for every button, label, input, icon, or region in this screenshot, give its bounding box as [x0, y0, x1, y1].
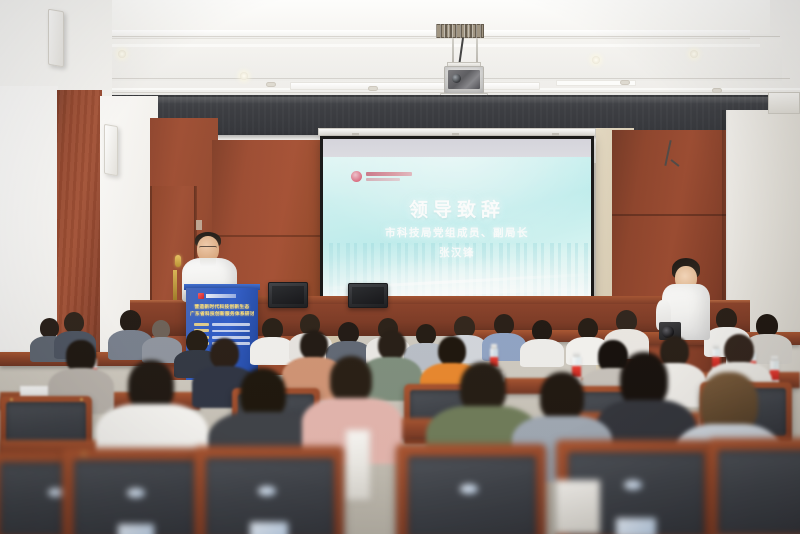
ceiling-seam [20, 36, 780, 37]
ceiling-downlight [592, 56, 600, 64]
ceiling-seam [0, 92, 800, 93]
row-key [194, 323, 209, 326]
vent-grille-icon [436, 24, 484, 38]
slide-subtitle-2: 张汉锋 [323, 245, 591, 260]
projector-lift-rod [452, 38, 454, 64]
slide-logo-icon [351, 171, 362, 182]
smoke-detector-icon [368, 86, 378, 91]
ceiling-downlight [118, 50, 126, 58]
slide-title: 领导致辞 [323, 195, 591, 222]
tote-bag [556, 480, 600, 534]
door-handle-icon[interactable] [175, 255, 181, 267]
podium-logo-icon [198, 293, 204, 299]
podium-banner-row [194, 323, 250, 326]
row-value [212, 336, 250, 339]
screen-top-band [323, 139, 591, 157]
conference-hall-photo: 领导致辞 市科技局党组成员、副局长 张汉锋 营造新时代科技创新生态 广东省科技创… [0, 0, 800, 534]
projector-lift-rod [476, 38, 478, 64]
door-push-plate [173, 270, 177, 300]
wood-seam [212, 235, 324, 237]
slide-logo-subtext [366, 178, 400, 181]
smoke-detector-icon [266, 82, 276, 87]
podium-logo-wordmark [206, 294, 236, 298]
slide-logo-wordmark [366, 172, 412, 176]
podium-banner-line-2: 广东省科技创新服务体系研讨 [190, 311, 254, 317]
ceiling-downlight [240, 72, 248, 80]
smoke-detector-icon [712, 88, 722, 93]
wall-equipment-box [768, 92, 800, 114]
slide-subtitle-1: 市科技局党组成员、副局长 [323, 225, 591, 240]
handout-paper [346, 430, 370, 500]
door-hinge [196, 220, 202, 230]
projector-lens-icon [452, 74, 461, 83]
monitor-screen [352, 287, 384, 304]
ceiling-recess-lip [60, 44, 760, 47]
wood-seam [612, 214, 728, 216]
row-value [212, 323, 250, 326]
beam-sheen [108, 97, 800, 104]
row-value [212, 330, 250, 333]
ceiling-downlight [690, 50, 698, 58]
monitor-screen [272, 286, 304, 304]
podium-banner-line-1: 营造新时代科技创新生态 [190, 304, 254, 310]
eyeglasses-icon [199, 246, 217, 251]
ceiling-seam [10, 78, 790, 79]
ceiling-linear-light [290, 82, 540, 90]
presentation-slide: 领导致辞 市科技局党组成员、副局长 张汉锋 [323, 157, 591, 301]
wall-loudspeaker [104, 124, 118, 176]
speaker-collar [200, 258, 216, 267]
ceiling-light-slot [110, 30, 750, 39]
smoke-detector-icon [620, 80, 630, 85]
wall-loudspeaker [48, 9, 64, 68]
ceiling-panel-upper [30, 0, 770, 34]
stage-rail [256, 296, 686, 304]
